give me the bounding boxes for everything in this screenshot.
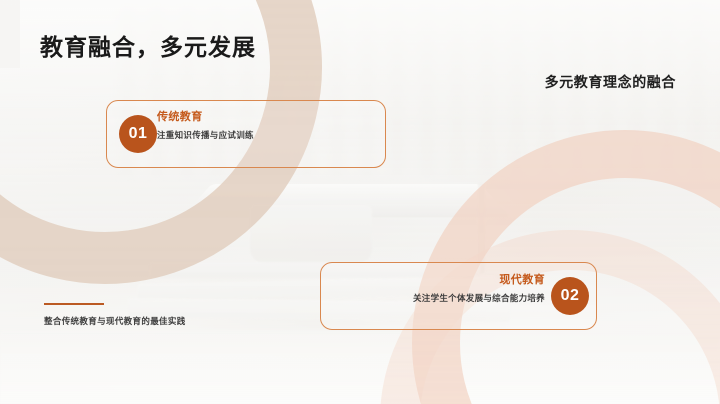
card-heading-02: 现代教育: [330, 273, 545, 288]
card-description-02: 关注学生个体发展与综合能力培养: [330, 292, 545, 304]
page-title: 教育融合，多元发展: [40, 28, 256, 62]
footer-caption: 整合传统教育与现代教育的最佳实践: [44, 315, 186, 327]
card-heading-01: 传统教育: [157, 110, 254, 125]
presentation-slide: 教育融合，多元发展 多元教育理念的融合 01 传统教育 注重知识传播与应试训练 …: [0, 0, 720, 404]
card-description-01: 注重知识传播与应试训练: [157, 129, 254, 141]
card-text-block-01: 传统教育 注重知识传播与应试训练: [157, 110, 254, 141]
decorative-arc-mask: [0, 0, 20, 68]
caption-rule: [44, 303, 104, 305]
card-number-badge-01: 01: [119, 115, 157, 153]
card-number-badge-02: 02: [551, 277, 589, 315]
card-text-block-02: 现代教育 关注学生个体发展与综合能力培养: [330, 273, 545, 304]
page-subtitle: 多元教育理念的融合: [545, 72, 676, 92]
